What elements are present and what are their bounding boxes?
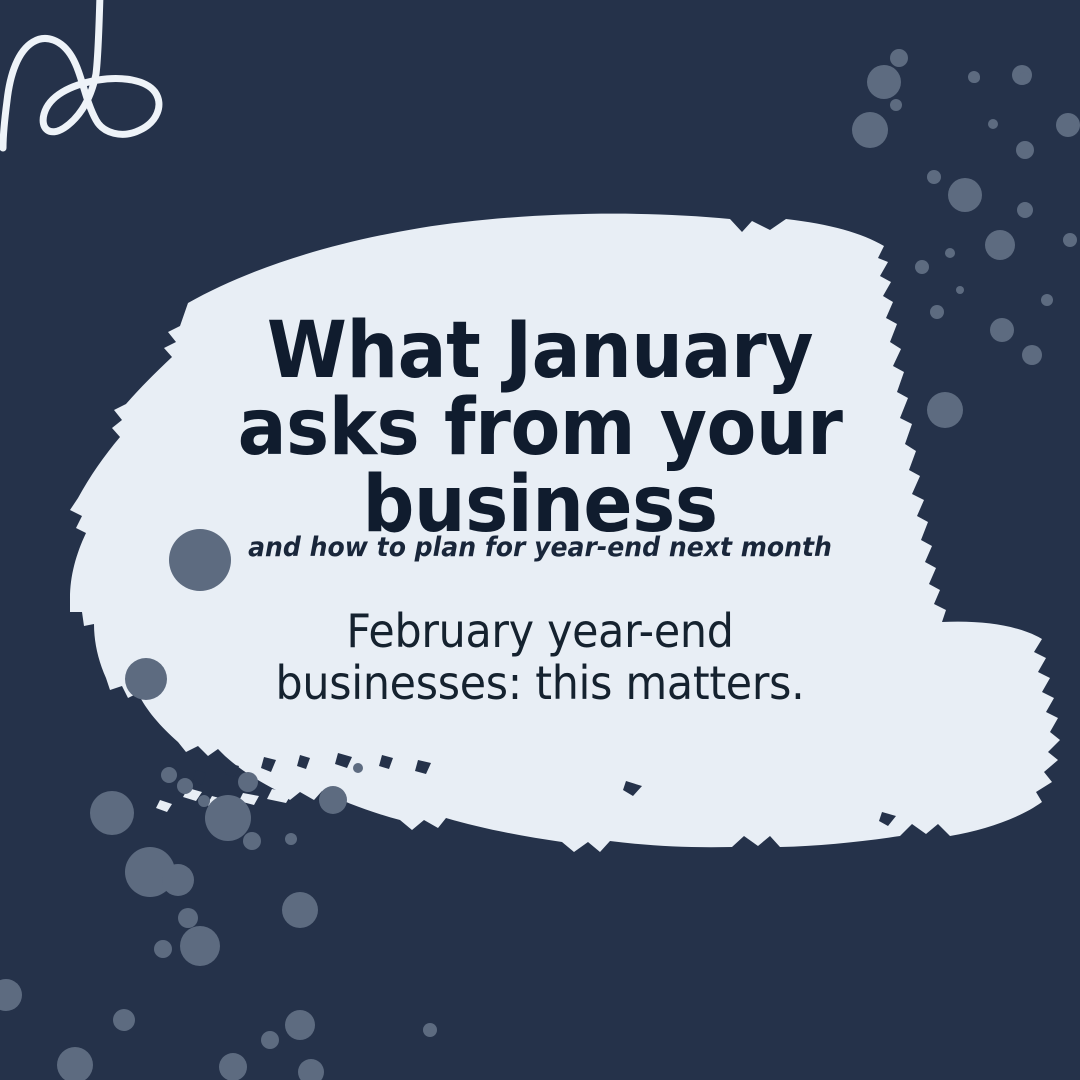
hand-drawn-loop-squiggle-icon — [3, 0, 159, 148]
squiggle-layer — [0, 0, 1080, 1080]
poster-canvas: What January asks from your business and… — [0, 0, 1080, 1080]
